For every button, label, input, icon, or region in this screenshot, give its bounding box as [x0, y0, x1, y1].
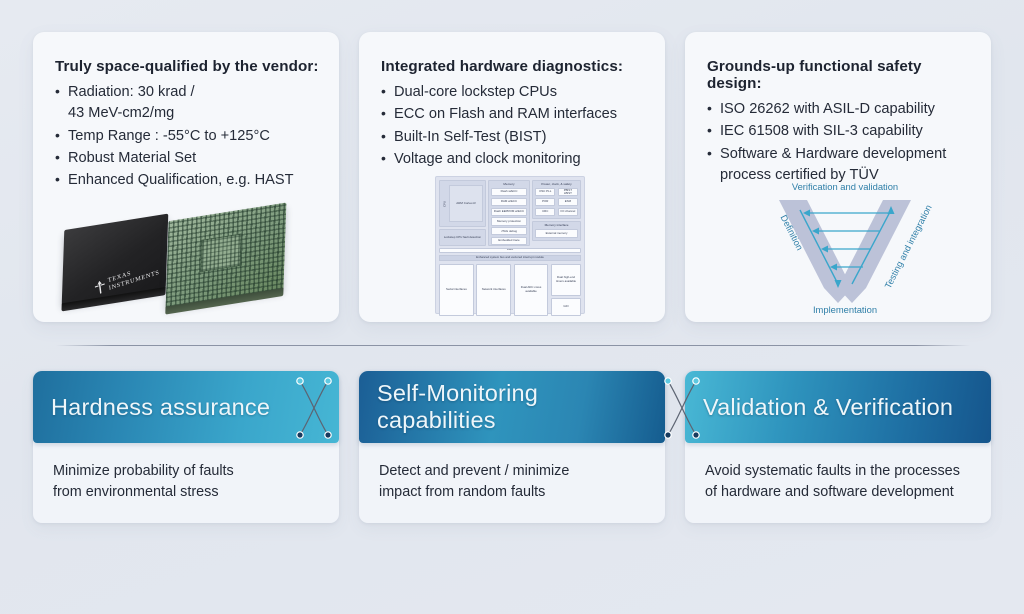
list-item: Dual-core lockstep CPUs	[381, 82, 645, 103]
list-item: IEC 61508 with SIL-3 capability	[707, 121, 971, 142]
list-item: Built-In Self-Test (BIST)	[381, 127, 645, 148]
pillar-caption: Detect and prevent / minimize impact fro…	[359, 443, 665, 503]
peripheral-sub-column: Dual high-end timers available GIO	[551, 264, 581, 316]
lockstep-block: Lockstep CPU fault detection	[439, 229, 486, 246]
pillar-banner-label: Hardness assurance	[51, 394, 270, 421]
bullet-text: Software & Hardware development	[720, 146, 946, 162]
feature-card-row: Truly space-qualified by the vendor: Rad…	[33, 32, 991, 322]
peripheral-row: Serial interfaces Network interfaces Dua…	[439, 264, 581, 316]
card-heading: Truly space-qualified by the vendor:	[55, 58, 319, 75]
pillar-banner-label: Validation & Verification	[703, 394, 953, 421]
bullet-text: Radiation: 30 krad /	[68, 84, 195, 100]
power-block: PBIST LBIST	[558, 188, 578, 196]
v-bottom-label: Implementation	[813, 304, 877, 315]
soc-block-diagram: CPU ARM Cortex-R Lockstep CPU fault dete…	[435, 176, 585, 314]
connector-node	[693, 378, 699, 384]
green-bga-substrate	[165, 202, 286, 307]
peripheral-block: Dual ADC cores available	[514, 264, 549, 316]
feature-card-functional-safety: Grounds-up functional safety design: ISO…	[685, 32, 991, 322]
connector-node	[693, 432, 699, 438]
bga-die-area	[201, 234, 242, 273]
card-bullet-list: Radiation: 30 krad / 43 MeV-cm2/mg Temp …	[55, 82, 319, 191]
black-bga-chip: TEXAS INSTRUMENTS	[62, 214, 169, 305]
pillar-self-monitoring: Self-Monitoring capabilities Detect and …	[359, 371, 665, 523]
memory-group: Memory Flash w/ECC RAM w/ECC Flash EEPRO…	[488, 180, 529, 246]
list-item: Radiation: 30 krad / 43 MeV-cm2/mg	[55, 82, 319, 125]
system-bus-block: Enhanced system bus and vectored interru…	[439, 255, 581, 261]
cpu-vertical-label: CPU	[443, 201, 446, 207]
power-block: CRC	[535, 208, 555, 216]
power-block-row: OSC PLL PBIST LBIST	[535, 188, 578, 196]
cpu-group: CPU ARM Cortex-R	[439, 180, 486, 227]
peripheral-block: GIO	[551, 298, 581, 316]
section-divider	[56, 345, 970, 346]
feature-card-hardware-diagnostics: Integrated hardware diagnostics: Dual-co…	[359, 32, 665, 322]
pillar-caption: Minimize probability of faults from envi…	[33, 443, 339, 503]
connector-node	[325, 378, 331, 384]
list-item: Temp Range : -55°C to +125°C	[55, 126, 319, 147]
pillar-banner[interactable]: Self-Monitoring capabilities	[359, 371, 665, 443]
pillar-hardness-assurance: Hardness assurance Minimize probability …	[33, 371, 339, 523]
caption-line: of hardware and software development	[705, 484, 954, 500]
memory-block: RAM w/ECC	[491, 198, 526, 206]
caption-line: Avoid systematic faults in the processes	[705, 463, 960, 479]
power-block: POR	[535, 198, 555, 206]
pillar-banner[interactable]: Validation & Verification	[685, 371, 991, 443]
power-block: OSC PLL	[535, 188, 555, 196]
memory-group-title: Memory	[491, 183, 526, 187]
power-clock-safety-column: Power, clock, & safety OSC PLL PBIST LBI…	[532, 180, 581, 246]
power-clock-safety-group: Power, clock, & safety OSC PLL PBIST LBI…	[532, 180, 581, 219]
feature-card-space-qualified: Truly space-qualified by the vendor: Rad…	[33, 32, 339, 322]
power-block-row: CRC I/O channel	[535, 208, 578, 216]
memory-block-list: Flash w/ECC RAM w/ECC Flash EEPROM w/ECC…	[491, 188, 526, 245]
list-item: Robust Material Set	[55, 148, 319, 169]
v-top-label: Verification and validation	[792, 181, 898, 192]
connector-node	[297, 432, 303, 438]
slide-canvas: Truly space-qualified by the vendor: Rad…	[0, 0, 1024, 614]
connector-node	[665, 432, 671, 438]
power-block: ESM	[558, 198, 578, 206]
memory-interface-title: Memory interface	[535, 224, 578, 228]
block-diagram-top-row: CPU ARM Cortex-R Lockstep CPU fault dete…	[439, 180, 581, 246]
memory-interface-group: Memory interface External memory	[532, 221, 581, 240]
caption-line: Detect and prevent / minimize	[379, 463, 569, 479]
list-item: Enhanced Qualification, e.g. HAST	[55, 170, 319, 191]
power-block-row: POR ESM	[535, 198, 578, 206]
cpu-core-block: ARM Cortex-R	[449, 185, 483, 222]
connector-node	[665, 378, 671, 384]
power-block: I/O channel	[558, 208, 578, 216]
external-memory-block: External memory	[535, 229, 578, 237]
memory-block: Flash EEPROM w/ECC	[491, 208, 526, 216]
card-bullet-list: Dual-core lockstep CPUs ECC on Flash and…	[381, 82, 645, 170]
pillar-banner[interactable]: Hardness assurance	[33, 371, 339, 443]
v-model-diagram: Verification and validation Implementati…	[745, 176, 945, 316]
card-heading: Integrated hardware diagnostics:	[381, 58, 645, 75]
ti-flame-icon	[94, 279, 107, 295]
power-block-grid: OSC PLL PBIST LBIST POR ESM CRC I/O chan…	[535, 188, 578, 216]
list-item: ISO 26262 with ASIL-D capability	[707, 99, 971, 120]
bullet-text-continuation: 43 MeV-cm2/mg	[68, 103, 319, 124]
memory-block: Memory protection	[491, 217, 526, 225]
cpu-column: CPU ARM Cortex-R Lockstep CPU fault dete…	[439, 180, 486, 246]
card-heading: Grounds-up functional safety design:	[707, 58, 971, 92]
memory-block: Embedded trace	[491, 237, 526, 245]
card-bullet-list: ISO 26262 with ASIL-D capability IEC 615…	[707, 99, 971, 186]
peripheral-block: Serial interfaces	[439, 264, 474, 316]
pillar-caption: Avoid systematic faults in the processes…	[685, 443, 991, 503]
memory-block: JTAG debug	[491, 227, 526, 235]
peripheral-block: Network interfaces	[476, 264, 511, 316]
peripheral-block: Dual high-end timers available	[551, 264, 581, 296]
memory-block: Flash w/ECC	[491, 188, 526, 196]
chip-photograph: TEXAS INSTRUMENTS	[59, 194, 307, 304]
pillar-validation-verification: Validation & Verification Avoid systemat…	[685, 371, 991, 523]
dma-block: DMA	[439, 248, 581, 253]
caption-line: from environmental stress	[53, 484, 219, 500]
pillar-connector-1	[296, 371, 332, 445]
caption-line: Minimize probability of faults	[53, 463, 234, 479]
power-group-title: Power, clock, & safety	[535, 183, 578, 187]
list-item: ECC on Flash and RAM interfaces	[381, 104, 645, 125]
connector-node	[325, 432, 331, 438]
caption-line: impact from random faults	[379, 484, 545, 500]
list-item: Voltage and clock monitoring	[381, 149, 645, 170]
connector-node	[297, 378, 303, 384]
pillar-connector-2	[664, 371, 700, 445]
texas-instruments-logo: TEXAS INSTRUMENTS	[108, 261, 161, 292]
pillar-banner-label: Self-Monitoring capabilities	[377, 380, 647, 434]
pillar-row: Hardness assurance Minimize probability …	[33, 371, 991, 523]
